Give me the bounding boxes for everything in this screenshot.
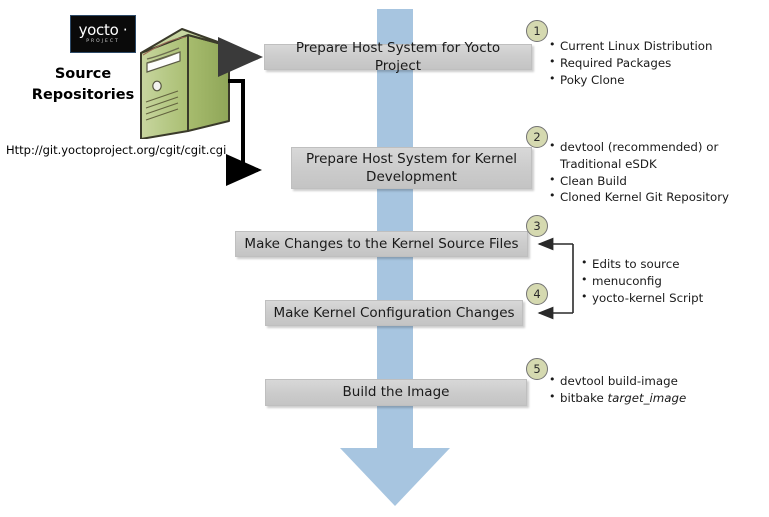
process-box-step-5[interactable]: Build the Image bbox=[265, 379, 527, 406]
bullet-item: Poky Clone bbox=[549, 72, 764, 89]
step-badge-4: 4 bbox=[526, 283, 548, 305]
source-repository-url: Http://git.yoctoproject.org/cgit/cgit.cg… bbox=[6, 143, 226, 157]
bullet-item: Cloned Kernel Git Repository bbox=[549, 189, 749, 206]
bullet-item: Current Linux Distribution bbox=[549, 38, 764, 55]
logo-wordmark: yocto · bbox=[79, 23, 128, 38]
bullet-list-step-1: Current Linux Distribution Required Pack… bbox=[549, 38, 764, 88]
process-box-step-1[interactable]: Prepare Host System for Yocto Project bbox=[264, 44, 532, 70]
bullet-item: devtool (recommended) or Traditional eSD… bbox=[549, 139, 749, 173]
logo-subtext: PROJECT bbox=[86, 40, 119, 45]
bullet-item: menuconfig bbox=[581, 273, 761, 290]
step-badge-2: 2 bbox=[526, 126, 548, 148]
yocto-project-logo: yocto · PROJECT bbox=[70, 15, 136, 53]
bullet-item: Required Packages bbox=[549, 55, 764, 72]
source-repositories-label: Source Repositories bbox=[28, 64, 138, 106]
bullet-item: Clean Build bbox=[549, 173, 749, 190]
bullet-item: Edits to source bbox=[581, 256, 761, 273]
process-box-step-3[interactable]: Make Changes to the Kernel Source Files bbox=[235, 231, 528, 257]
process-box-step-4[interactable]: Make Kernel Configuration Changes bbox=[265, 300, 523, 326]
bitbake-command-prefix: bitbake bbox=[560, 391, 608, 405]
process-box-step-2[interactable]: Prepare Host System for Kernel Developme… bbox=[291, 147, 532, 189]
server-icon bbox=[138, 27, 232, 139]
bullet-item: bitbake target_image bbox=[549, 390, 764, 407]
step-badge-5: 5 bbox=[526, 358, 548, 380]
bullet-item: devtool build-image bbox=[549, 373, 764, 390]
step-badge-3: 3 bbox=[526, 215, 548, 237]
source-label-line2: Repositories bbox=[28, 85, 138, 106]
bullet-item: yocto-kernel Script bbox=[581, 290, 761, 307]
step-badge-1: 1 bbox=[526, 20, 548, 42]
diagram-canvas: yocto · PROJECT Source Repositories Http… bbox=[0, 0, 769, 517]
flow-arrow-head bbox=[340, 448, 450, 506]
bullet-list-step-2: devtool (recommended) or Traditional eSD… bbox=[549, 139, 749, 206]
bullet-list-steps-3-4: Edits to source menuconfig yocto-kernel … bbox=[581, 256, 761, 306]
source-label-line1: Source bbox=[28, 64, 138, 85]
bitbake-target-image-arg: target_image bbox=[608, 391, 687, 405]
bullet-list-step-5: devtool build-image bitbake target_image bbox=[549, 373, 764, 407]
